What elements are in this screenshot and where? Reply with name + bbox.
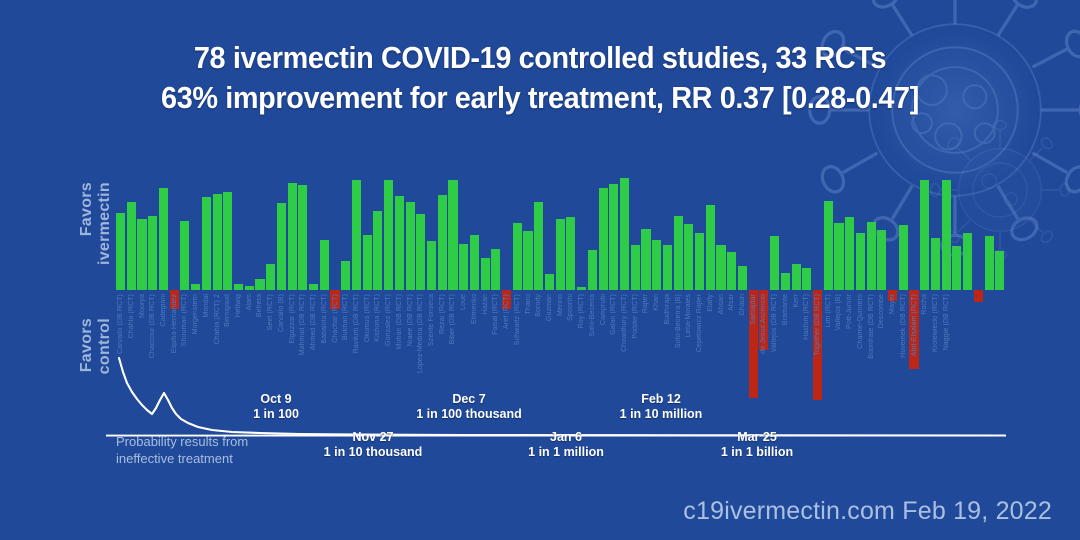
study-label: Mahmud (DB RCT): [299, 294, 306, 355]
study-label: Samajdar: [750, 294, 757, 325]
date-marker-date: Oct 9: [201, 392, 351, 407]
study-bar[interactable]: [395, 196, 404, 290]
date-marker-probability: 1 in 100: [201, 407, 351, 422]
study-bar[interactable]: [599, 188, 608, 291]
study-label: Chahla (RCT) 2: [214, 294, 221, 344]
study-label: Soto-Becerra (B): [675, 294, 682, 348]
study-label: Lima-Morales: [685, 294, 692, 338]
study-label: Kishoria (RCT): [374, 294, 381, 342]
study-label: Afsar: [728, 294, 735, 311]
study-bar[interactable]: [802, 268, 811, 290]
axis-label-favors-control: control: [96, 318, 114, 374]
study-bar[interactable]: [834, 223, 843, 290]
study-label: Espitia-Hernandez: [171, 294, 178, 353]
study-label: Galan (RCT): [610, 294, 617, 335]
study-bar[interactable]: [920, 180, 929, 290]
study-bar[interactable]: [277, 203, 286, 290]
study-label: Elgazzar (RCT): [289, 294, 296, 344]
study-label: Pott-Junior: [846, 294, 853, 329]
study-bar[interactable]: [320, 240, 329, 290]
study-bar[interactable]: [770, 236, 779, 290]
study-bar[interactable]: [738, 266, 747, 290]
study-bar[interactable]: [159, 188, 168, 291]
study-bar[interactable]: [620, 178, 629, 290]
axis-label-favors: Favors: [78, 182, 96, 236]
page-title: 78 ivermectin COVID-19 controlled studie…: [0, 38, 1080, 118]
study-label: Szente Fonseca: [428, 294, 435, 346]
study-bar[interactable]: [609, 184, 618, 290]
study-bar[interactable]: [781, 273, 790, 290]
study-label: Alam: [246, 294, 253, 310]
study-label: Okumus (RCT): [364, 294, 371, 342]
study-label: Bramante: [782, 294, 789, 325]
study-label: Budhiraja: [664, 294, 671, 324]
study-bar[interactable]: [931, 238, 940, 291]
study-label: Rocha: [921, 294, 928, 315]
date-marker: Oct 91 in 100: [201, 392, 351, 422]
title-line-1: 78 ivermectin COVID-19 controlled studie…: [38, 38, 1042, 78]
study-bar[interactable]: [985, 236, 994, 290]
study-label: Ravikirti (DB RCT): [353, 294, 360, 353]
study-label: Podder (RCT): [632, 294, 639, 339]
study-label: Borody: [535, 294, 542, 317]
study-label: Biber (DB RCT): [449, 294, 456, 344]
study-bar[interactable]: [727, 252, 736, 290]
study-label: Faisal (RCT): [492, 294, 499, 335]
study-bar[interactable]: [448, 180, 457, 290]
study-label: Elalfy: [707, 294, 714, 312]
date-marker: Feb 121 in 10 million: [586, 392, 736, 422]
study-label: Vallejos (B): [835, 294, 842, 330]
study-label: Ghauri: [739, 294, 746, 316]
study-bar[interactable]: [867, 222, 876, 290]
study-bar[interactable]: [824, 201, 833, 290]
study-label: Bernigaud: [224, 294, 231, 327]
study-bar[interactable]: [952, 246, 961, 290]
study-label: Seet (RCT): [267, 294, 274, 330]
study-label: Guzman: [546, 294, 553, 321]
study-label: Chachar (RCT): [332, 294, 339, 343]
study-bar[interactable]: [288, 183, 297, 290]
study-bar[interactable]: [995, 251, 1004, 290]
study-label: Behera: [256, 294, 263, 317]
probability-note-line-2: ineffective treatment: [116, 450, 281, 467]
study-bar[interactable]: [856, 233, 865, 290]
study-bar[interactable]: [341, 261, 350, 290]
study-label: Khan: [653, 294, 660, 311]
study-label: Naggie (DB RCT): [943, 294, 950, 350]
study-bar[interactable]: [180, 221, 189, 291]
study-label: Chowdhury (RCT): [621, 294, 628, 352]
study-label: Shouman (RCT): [181, 294, 188, 346]
study-label: Chahla (RCT): [128, 294, 135, 338]
study-label: Together (DB RCT): [814, 294, 821, 356]
study-bar[interactable]: [298, 185, 307, 290]
study-label: Bukhari (RCT): [342, 294, 349, 340]
infographic-canvas: 78 ivermectin COVID-19 controlled studie…: [0, 0, 1080, 540]
study-bar[interactable]: [845, 217, 854, 290]
study-label: Morgenstern: [192, 294, 199, 334]
study-bar[interactable]: [942, 180, 951, 290]
study-label: Roy (RCT): [578, 294, 585, 328]
study-label: Ahsan: [718, 294, 725, 314]
study-bar[interactable]: [373, 211, 382, 290]
study-bar[interactable]: [223, 192, 232, 290]
title-line-2: 63% improvement for early treatment, RR …: [38, 78, 1042, 118]
study-label: Cepelowicz Rajter: [696, 294, 703, 352]
study-label: Hazan: [482, 294, 489, 315]
date-marker-date: Feb 12: [586, 392, 736, 407]
study-bar[interactable]: [641, 229, 650, 290]
study-bar[interactable]: [706, 205, 715, 290]
study-label: Abd-Elsalam (RCT): [911, 294, 918, 356]
study-label: Chaccour (DB RCT): [149, 294, 156, 358]
study-bar[interactable]: [674, 216, 683, 290]
study-label: Huvemek (DB RCT): [900, 294, 907, 358]
study-label: Mondal: [203, 294, 210, 318]
study-bar[interactable]: [684, 224, 693, 290]
study-bar[interactable]: [631, 245, 640, 290]
study-label: Spoorthi: [567, 294, 574, 321]
date-marker-probability: 1 in 100 thousand: [394, 407, 544, 422]
study-label: de Jesus Ascencio: [760, 294, 767, 354]
study-bar[interactable]: [416, 214, 425, 290]
study-bar[interactable]: [438, 195, 447, 290]
date-marker-date: Nov 27: [298, 430, 448, 445]
footer-date: Feb 19, 2022: [902, 497, 1052, 525]
study-bar[interactable]: [491, 249, 500, 291]
probability-note-line-1: Probability results from: [116, 433, 281, 450]
date-marker: Nov 271 in 10 thousand: [298, 430, 448, 460]
study-bar[interactable]: [545, 274, 554, 290]
study-label: Krolewiecki (RCT): [932, 294, 939, 352]
study-label: Carvallo (DB RCT): [117, 294, 124, 354]
study-bar[interactable]: [523, 231, 532, 290]
study-label: Gonzalez (RCT): [385, 294, 392, 346]
study-label: Soto-Becerra: [589, 294, 596, 336]
date-marker-probability: 1 in 1 million: [491, 445, 641, 460]
date-marker: Mar 251 in 1 billion: [682, 430, 832, 460]
study-bar[interactable]: [716, 245, 725, 290]
study-label: Rezai (RCT): [439, 294, 446, 334]
study-bar[interactable]: [899, 225, 908, 290]
study-bar[interactable]: [352, 180, 361, 290]
study-bar[interactable]: [116, 213, 125, 290]
date-marker-probability: 1 in 10 million: [586, 407, 736, 422]
study-label: Merino: [557, 294, 564, 316]
study-bar[interactable]: [213, 194, 222, 290]
date-marker: Dec 71 in 100 thousand: [394, 392, 544, 422]
study-bar[interactable]: [513, 223, 522, 290]
study-bar[interactable]: [137, 219, 146, 290]
study-label: Hellwig: [235, 294, 242, 317]
study-bar[interactable]: [963, 233, 972, 290]
study-bar[interactable]: [792, 264, 801, 290]
study-bar[interactable]: [470, 235, 479, 290]
study-label: Lim (RCT): [825, 294, 832, 327]
study-bar[interactable]: [384, 180, 393, 290]
date-marker: Jan 61 in 1 million: [491, 430, 641, 460]
study-label: Vallejos (DB RCT): [771, 294, 778, 352]
study-bar[interactable]: [202, 197, 211, 290]
study-label: Efimenko: [471, 294, 478, 324]
study-label: Mourya: [139, 294, 146, 318]
probability-note: Probability results from ineffective tre…: [116, 433, 281, 467]
study-bar[interactable]: [266, 264, 275, 290]
study-label: Chamie-Quintero: [857, 294, 864, 349]
study-label: Schwartz (RCT): [514, 294, 521, 345]
study-bar[interactable]: [191, 284, 200, 290]
study-label: Buonfrate (DB RCT): [868, 294, 875, 359]
footer-site: c19ivermectin.com: [683, 497, 895, 525]
study-bar[interactable]: [127, 202, 136, 290]
study-label: Mayer: [889, 294, 896, 314]
date-marker-date: Jan 6: [491, 430, 641, 445]
study-label: Mohan (DB RCT): [396, 294, 403, 349]
study-label: Thairu: [525, 294, 532, 314]
study-label: Niaee (DB RCT): [407, 294, 414, 346]
study-label: Lopez-Medina (DB RCT): [417, 294, 424, 373]
study-bar[interactable]: [255, 279, 264, 290]
study-label: Kerr: [793, 294, 800, 308]
study-bar[interactable]: [363, 235, 372, 290]
study-label: Aref (RCT): [503, 294, 510, 329]
study-bar[interactable]: [148, 216, 157, 290]
axis-label-favors-2: Favors: [78, 318, 96, 372]
study-label: Ahmed (DB RCT): [310, 294, 317, 350]
study-bar[interactable]: [652, 240, 661, 290]
study-bar[interactable]: [534, 202, 543, 290]
study-label: Camprubi: [600, 294, 607, 325]
study-bar[interactable]: [974, 290, 983, 302]
footer-attribution: c19ivermectin.com Feb 19, 2022: [683, 497, 1052, 526]
study-label: Hashim (RCT): [803, 294, 810, 340]
study-label: Rajter: [642, 294, 649, 313]
study-bar[interactable]: [309, 284, 318, 290]
study-bar[interactable]: [577, 287, 586, 290]
study-bar[interactable]: [695, 233, 704, 290]
study-bar[interactable]: [459, 244, 468, 290]
study-bar[interactable]: [663, 245, 672, 290]
study-bar[interactable]: [481, 258, 490, 290]
study-bar[interactable]: [234, 284, 243, 290]
forest-bar-plot: Carvallo (DB RCT)Chahla (RCT)MouryaChacc…: [116, 176, 1006, 426]
axis-label-favors-ivermectin: ivermectin: [96, 182, 114, 265]
study-label: Cadegiani: [160, 294, 167, 326]
study-bar[interactable]: [588, 250, 597, 290]
study-label: Babalola (RCT): [321, 294, 328, 344]
study-bar[interactable]: [427, 241, 436, 290]
study-bar[interactable]: [556, 219, 565, 290]
date-marker-probability: 1 in 10 thousand: [298, 445, 448, 460]
date-marker-probability: 1 in 1 billion: [682, 445, 832, 460]
study-bar[interactable]: [566, 217, 575, 290]
date-marker-date: Mar 25: [682, 430, 832, 445]
study-bar[interactable]: [245, 286, 254, 290]
study-bar[interactable]: [406, 202, 415, 290]
study-label: Loue: [460, 294, 467, 310]
date-marker-date: Dec 7: [394, 392, 544, 407]
study-label: Descombe: [878, 294, 885, 328]
study-bar[interactable]: [877, 230, 886, 290]
study-label: Carvallo (B): [278, 294, 285, 332]
